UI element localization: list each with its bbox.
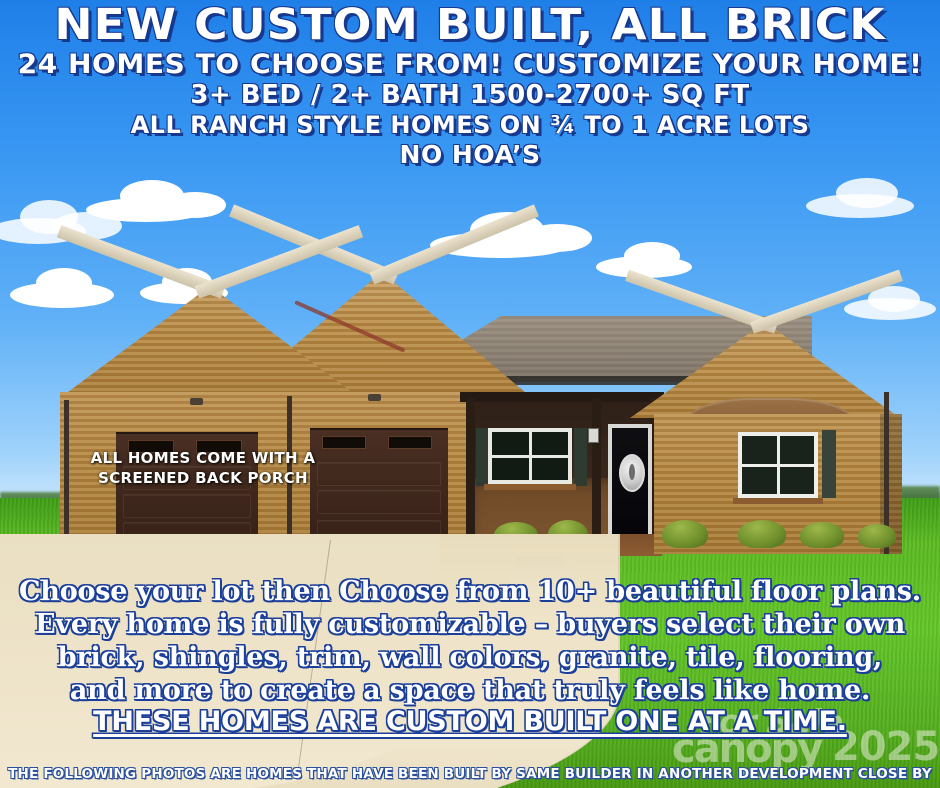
body-copy-block: Choose your lot then Choose from 10+ bea…	[0, 578, 940, 735]
shrub-6	[858, 524, 896, 548]
porch-post-center	[592, 398, 601, 554]
headline-line-3: 3+ BED / 2+ BATH 1500-2700+ SQ FT	[0, 78, 940, 109]
headline-line-1: NEW CUSTOM BUILT, ALL BRICK	[0, 0, 940, 48]
body-copy-line-3: brick, shingles, trim, wall colors, gran…	[0, 644, 940, 677]
body-copy-line-4: and more to create a space that truly fe…	[0, 677, 940, 708]
body-copy-line-1: Choose your lot then Choose from 10+ bea…	[0, 578, 940, 611]
porch-window	[488, 428, 572, 484]
body-copy-line-2: Every home is fully customizable – buyer…	[0, 611, 940, 644]
gable-wing-eave-right	[750, 270, 903, 334]
right-wing-window	[738, 432, 818, 498]
porch-wall-lamp	[588, 428, 599, 443]
front-door	[608, 424, 652, 538]
front-door-oval-glass	[619, 454, 645, 492]
headline-block: NEW CUSTOM BUILT, ALL BRICK 24 HOMES TO …	[0, 0, 940, 168]
disclaimer-text: THE FOLLOWING PHOTOS ARE HOMES THAT HAVE…	[0, 766, 940, 782]
right-wing-window-sill	[733, 498, 823, 504]
porch-callout: ALL HOMES COME WITH A SCREENED BACK PORC…	[78, 448, 328, 489]
headline-line-4: ALL RANCH STYLE HOMES ON ¾ TO 1 ACRE LOT…	[0, 109, 940, 137]
porch-window-sill	[484, 484, 576, 490]
shrub-3	[662, 520, 708, 548]
shrub-4	[738, 520, 786, 548]
porch-callout-line-1: ALL HOMES COME WITH A	[78, 448, 328, 468]
garage-light-right	[368, 394, 381, 401]
body-copy-line-5: THESE HOMES ARE CUSTOM BUILT ONE AT A TI…	[0, 708, 940, 735]
porch-post-left	[466, 398, 475, 554]
headline-line-2: 24 HOMES TO CHOOSE FROM! CUSTOMIZE YOUR …	[0, 48, 940, 79]
porch-callout-line-2: SCREENED BACK PORCH	[78, 468, 328, 488]
garage-light-left	[190, 398, 203, 405]
shutter-porch-right	[574, 428, 587, 486]
real-estate-listing-flyer: For Sale canopy 2025 MLS NEW CUSTOM BUIL…	[0, 0, 940, 788]
porch-header-beam	[460, 392, 664, 402]
downspout-left	[64, 400, 69, 554]
shutter-right-wing	[822, 430, 836, 498]
gable-right-eave-right	[370, 204, 539, 284]
headline-line-5: NO HOA’S	[0, 137, 940, 168]
shrub-5	[800, 522, 844, 548]
